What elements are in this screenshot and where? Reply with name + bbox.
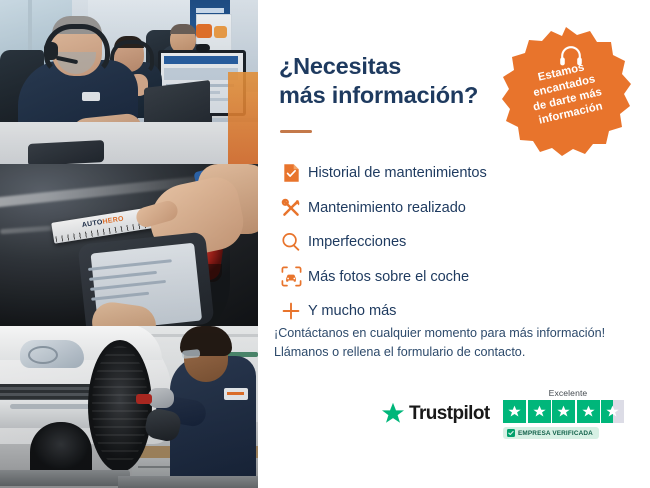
- magnifier-icon: [274, 230, 308, 254]
- verified-label: EMPRESA VERIFICADA: [518, 430, 593, 437]
- orange-rack: [228, 72, 258, 164]
- car-lift-platform: [118, 476, 258, 488]
- verified-business-badge: EMPRESA VERIFICADA: [503, 427, 599, 439]
- star-filled: [528, 400, 551, 423]
- contact-line-1: ¡Contáctanos en cualquier momento para m…: [274, 324, 634, 343]
- mechanic-shirt-logo: [224, 388, 248, 400]
- hand-tool: [136, 394, 152, 404]
- car-headlight: [20, 340, 84, 368]
- title-line-2: más información?: [279, 81, 529, 110]
- star-filled: [552, 400, 575, 423]
- feature-item-imperfecciones[interactable]: Imperfecciones: [274, 226, 614, 258]
- trustpilot-star-icon: [381, 402, 405, 425]
- poster-orange-block-2: [214, 26, 227, 38]
- star-rating: [503, 400, 633, 423]
- background-person-hair: [170, 24, 196, 34]
- poster-orange-block: [196, 24, 212, 38]
- workshop-photo: [0, 326, 258, 488]
- feature-list: Historial de mantenimientos Mantenimient…: [274, 157, 614, 330]
- screen-thumbnail-row: [164, 68, 238, 80]
- document-check-icon: [274, 161, 308, 185]
- info-badge: Estamos encantados de darte más informac…: [498, 23, 634, 159]
- car-frame-icon: [274, 265, 308, 289]
- trustpilot-logo: Trustpilot: [381, 402, 490, 425]
- feature-label: Y mucho más: [308, 303, 396, 319]
- title-divider: [280, 130, 312, 133]
- feature-item-fotos[interactable]: Más fotos sobre el coche: [274, 261, 614, 293]
- call-center-photo: [0, 0, 258, 164]
- star-filled: [577, 400, 600, 423]
- photo-column: AUTOHERO: [0, 0, 258, 488]
- wrench-screwdriver-icon: [274, 196, 308, 220]
- feature-label: Historial de mantenimientos: [308, 165, 487, 181]
- webcam: [196, 44, 210, 52]
- contact-text: ¡Contáctanos en cualquier momento para m…: [274, 324, 634, 362]
- title-line-1: ¿Necesitas: [279, 52, 529, 81]
- car-inspection-photo: AUTOHERO: [0, 164, 258, 326]
- front-agent-name-badge: [82, 92, 100, 101]
- feature-label: Imperfecciones: [308, 234, 406, 250]
- promo-card: AUTOHERO: [0, 0, 650, 488]
- trustpilot-widget[interactable]: Trustpilot Excelente: [381, 388, 633, 450]
- plus-icon: [274, 299, 308, 323]
- page-title: ¿Necesitas más información?: [279, 52, 529, 110]
- desk-tablet: [28, 140, 104, 164]
- contact-line-2: Llámanos o rellena el formulario de cont…: [274, 343, 634, 362]
- feature-label: Mantenimiento realizado: [308, 200, 466, 216]
- feature-item-mas[interactable]: Y mucho más: [274, 295, 614, 327]
- rating-label: Excelente: [503, 388, 633, 398]
- check-icon: [507, 429, 515, 437]
- ruler-brand-auto: AUTO: [81, 219, 103, 229]
- ruler-brand-hero: HERO: [102, 216, 124, 226]
- star-half: [601, 400, 624, 423]
- content-panel: ¿Necesitas más información? Estamos enca…: [258, 0, 650, 488]
- feature-item-mantenimiento[interactable]: Mantenimiento realizado: [274, 192, 614, 224]
- trustpilot-rating: Excelente: [503, 388, 633, 441]
- star-filled: [503, 400, 526, 423]
- feature-label: Más fotos sobre el coche: [308, 269, 469, 285]
- feature-item-historial[interactable]: Historial de mantenimientos: [274, 157, 614, 189]
- screen-header-bar: [164, 56, 238, 64]
- trustpilot-name: Trustpilot: [409, 403, 490, 425]
- car-lift-arm: [0, 470, 130, 486]
- tire-tread: [92, 346, 148, 466]
